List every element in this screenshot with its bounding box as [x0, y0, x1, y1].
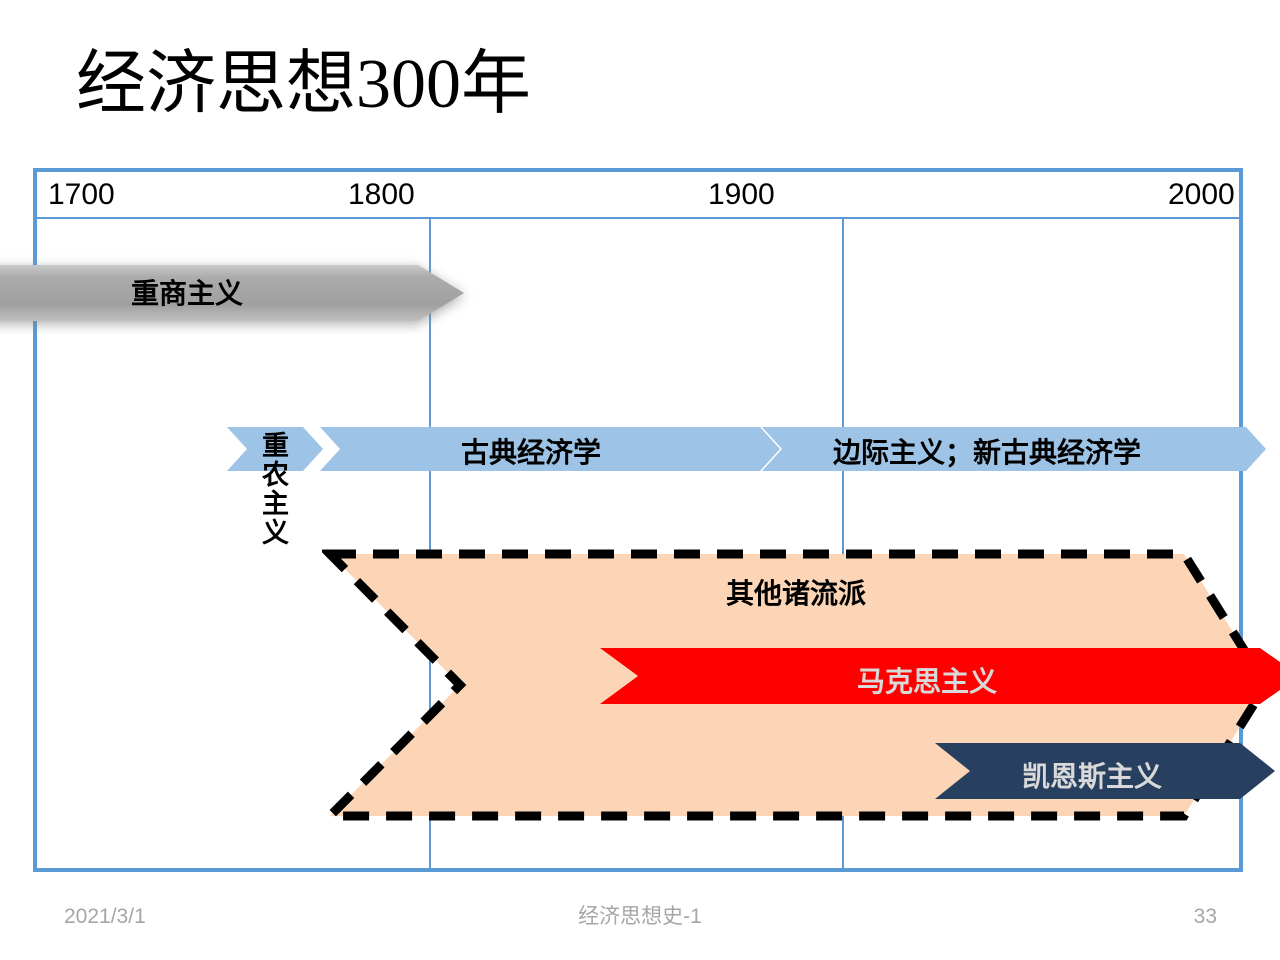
band-label-marginalism-neoclassical: 边际主义；新古典经济学 — [833, 431, 1141, 471]
band-label-keynesianism: 凯恩斯主义 — [1022, 755, 1162, 795]
axis-tick-1800: 1800 — [348, 176, 415, 214]
axis-tick-1700: 1700 — [48, 176, 115, 214]
band-label-other-schools: 其他诸流派 — [726, 572, 866, 612]
band-label-mercantilism: 重商主义 — [131, 272, 243, 312]
timeline-axis-header: 1700 1800 1900 2000 — [37, 172, 1239, 219]
band-label-marxism: 马克思主义 — [857, 660, 997, 700]
axis-tick-2000: 2000 — [1168, 176, 1235, 214]
band-label-physiocracy: 重农主义 — [256, 431, 288, 547]
page-title: 经济思想300年 — [76, 42, 531, 128]
band-label-classical-economics: 古典经济学 — [461, 431, 601, 471]
axis-tick-1900: 1900 — [708, 176, 775, 214]
footer-page-number: 33 — [0, 903, 1217, 931]
